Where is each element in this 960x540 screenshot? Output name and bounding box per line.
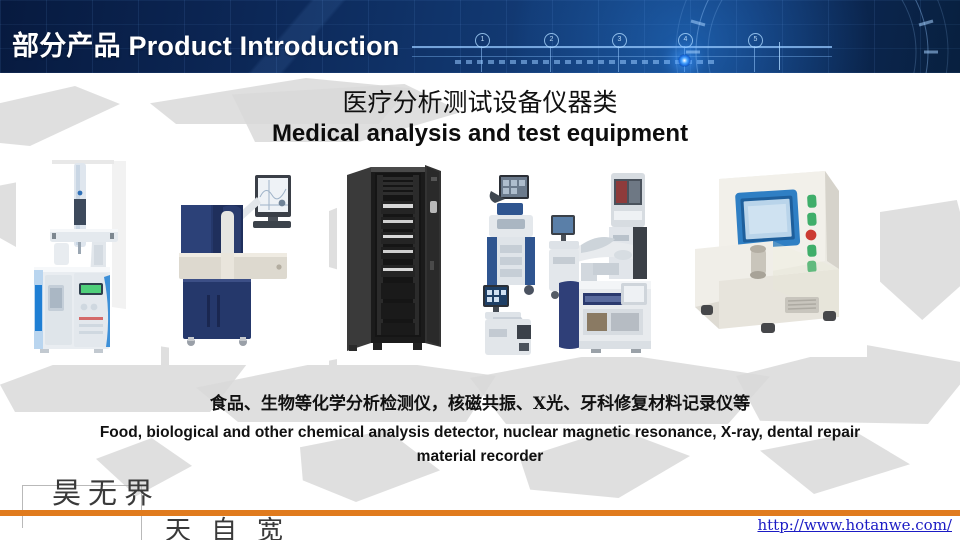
section-title-cn: 医疗分析测试设备仪器类 (0, 83, 960, 119)
radial-dial-graphic (672, 0, 952, 73)
logo-text-line1: 昊无界 (52, 470, 160, 512)
ruler-node-stem-1 (481, 46, 482, 72)
ruler-node-1: 1 (475, 33, 490, 48)
ruler-node-stem-3 (618, 46, 619, 72)
ruler-node-3: 3 (612, 33, 627, 48)
website-url-link[interactable]: http://www.hotanwe.com/ (757, 516, 952, 534)
caption-en-line2: material recorder (30, 445, 930, 469)
logo-text-line2: 天自宽 (165, 510, 303, 540)
product-photo-nmr-analyzer (169, 157, 329, 365)
caption-en-line1: Food, biological and other chemical anal… (30, 421, 930, 445)
product-photo-rack-cabinet (337, 157, 465, 365)
caption-en: Food, biological and other chemical anal… (30, 421, 930, 469)
product-photo-medical-collage (473, 157, 669, 357)
page-title: 部分产品 Product Introduction (12, 24, 399, 63)
caption-cn: 食品、生物等化学分析检测仪，核磁共振、X光、牙科修复材料记录仪等 (0, 389, 960, 414)
product-photo-benchtop-tester (677, 157, 867, 357)
product-photo-strip (16, 157, 944, 365)
ruler-node-2: 2 (544, 33, 559, 48)
slide-root: 部分产品 Product Introduction 1 2 3 4 5 (0, 0, 960, 540)
section-title-en: Medical analysis and test equipment (0, 120, 960, 148)
product-photo-gas-chromatograph-autosampler (16, 157, 161, 365)
ruler-node-stem-2 (550, 46, 551, 72)
header-banner: 部分产品 Product Introduction 1 2 3 4 5 (0, 0, 960, 73)
